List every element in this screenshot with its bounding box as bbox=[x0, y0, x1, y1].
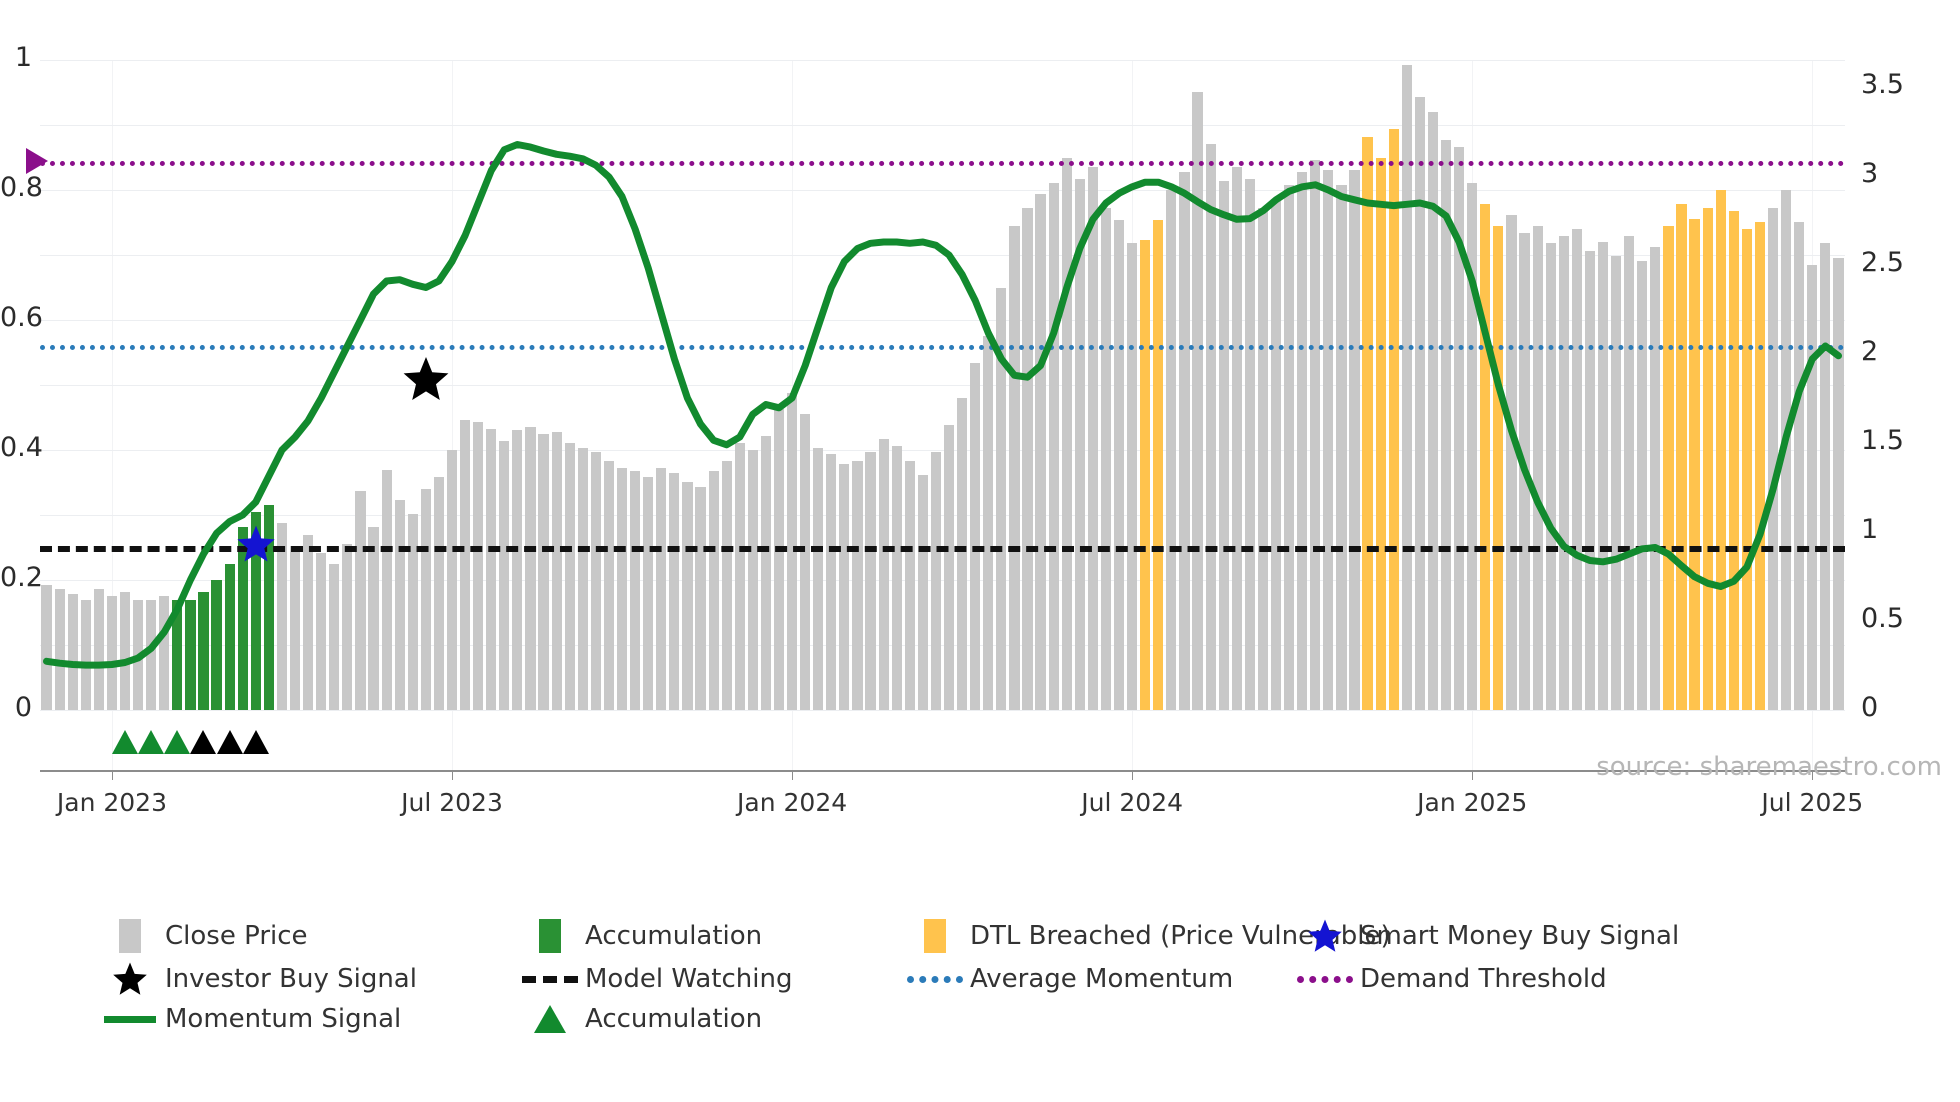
accumulation-triangle-green bbox=[164, 730, 190, 754]
y-axis-left-tick: 0.8 bbox=[0, 172, 32, 203]
x-axis-tick-mark bbox=[1132, 770, 1133, 780]
y-axis-right-tick: 1 bbox=[1861, 514, 1878, 545]
x-axis-tick-mark bbox=[112, 770, 113, 780]
source-note: source: sharemaestro.com bbox=[1596, 752, 1942, 782]
legend-label: Accumulation bbox=[585, 1004, 762, 1034]
demand-threshold-icon bbox=[1290, 976, 1360, 983]
x-axis-tick-mark bbox=[1472, 770, 1473, 780]
gridline bbox=[40, 710, 1845, 711]
legend-item-accumulation-triangle[interactable]: Accumulation bbox=[515, 1004, 900, 1034]
momentum-signal-icon bbox=[95, 1016, 165, 1023]
accumulation-bar-icon bbox=[515, 919, 585, 953]
legend-item-average-momentum[interactable]: Average Momentum bbox=[900, 961, 1290, 997]
x-axis-tick-mark bbox=[792, 770, 793, 780]
legend-label: Momentum Signal bbox=[165, 1004, 401, 1034]
dtl-breached-icon bbox=[900, 919, 970, 953]
accumulation-triangle-black bbox=[243, 730, 269, 754]
y-axis-left-tick: 0.4 bbox=[0, 432, 32, 463]
chart-legend: Close PriceAccumulationDTL Breached (Pri… bbox=[95, 918, 1895, 1041]
chart-root: 00.20.40.60.81 00.511.522.533.5 Jan 2023… bbox=[0, 0, 1960, 1102]
legend-item-close-price[interactable]: Close Price bbox=[95, 918, 515, 954]
investor-buy-icon bbox=[95, 961, 165, 997]
y-axis-right-tick: 0.5 bbox=[1861, 603, 1904, 634]
y-axis-right-tick: 2 bbox=[1861, 336, 1878, 367]
legend-row: Momentum SignalAccumulation bbox=[95, 1004, 1895, 1034]
accumulation-triangle-icon bbox=[515, 1005, 585, 1033]
y-axis-right-tick: 0 bbox=[1861, 692, 1878, 723]
legend-label: Close Price bbox=[165, 921, 308, 951]
legend-label: Average Momentum bbox=[970, 964, 1233, 994]
accumulation-triangle-green bbox=[138, 730, 164, 754]
x-axis-tick-label: Jan 2023 bbox=[57, 788, 167, 817]
y-axis-right-tick: 3.5 bbox=[1861, 69, 1904, 100]
x-axis-line bbox=[40, 770, 1845, 772]
y-axis-left-tick: 1 bbox=[0, 42, 32, 73]
y-axis-left-tick: 0.2 bbox=[0, 562, 32, 593]
legend-item-dtl-breached[interactable]: DTL Breached (Price Vulnerable) bbox=[900, 918, 1290, 954]
legend-label: Model Watching bbox=[585, 964, 792, 994]
x-axis-tick-label: Jan 2024 bbox=[737, 788, 847, 817]
legend-label: Demand Threshold bbox=[1360, 964, 1607, 994]
x-axis-tick-label: Jul 2023 bbox=[401, 788, 503, 817]
x-axis-tick-label: Jan 2025 bbox=[1417, 788, 1527, 817]
smart-money-buy-signal-marker bbox=[236, 524, 276, 564]
y-axis-right-tick: 3 bbox=[1861, 158, 1878, 189]
legend-label: Accumulation bbox=[585, 921, 762, 951]
y-axis-right-tick: 2.5 bbox=[1861, 247, 1904, 278]
accumulation-triangle-green bbox=[112, 730, 138, 754]
investor-buy-signal-marker bbox=[402, 355, 450, 403]
close-price-icon bbox=[95, 919, 165, 953]
legend-item-model-watching[interactable]: Model Watching bbox=[515, 961, 900, 997]
legend-row: Close PriceAccumulationDTL Breached (Pri… bbox=[95, 918, 1895, 954]
legend-item-investor-buy[interactable]: Investor Buy Signal bbox=[95, 961, 515, 997]
accumulation-triangle-black bbox=[217, 730, 243, 754]
x-axis-tick-label: Jul 2025 bbox=[1761, 788, 1863, 817]
legend-item-accumulation-bar[interactable]: Accumulation bbox=[515, 918, 900, 954]
average-momentum-icon bbox=[900, 976, 970, 983]
legend-item-momentum-signal[interactable]: Momentum Signal bbox=[95, 1004, 515, 1034]
legend-item-smart-money-buy[interactable]: Smart Money Buy Signal bbox=[1290, 918, 1679, 954]
accumulation-triangle-black bbox=[190, 730, 216, 754]
smart-money-buy-icon bbox=[1290, 918, 1360, 954]
x-axis-tick-label: Jul 2024 bbox=[1081, 788, 1183, 817]
legend-row: Investor Buy SignalModel WatchingAverage… bbox=[95, 961, 1895, 997]
y-axis-left-tick: 0.6 bbox=[0, 302, 32, 333]
plot-area bbox=[40, 60, 1845, 710]
legend-item-demand-threshold[interactable]: Demand Threshold bbox=[1290, 961, 1607, 997]
momentum-signal-curve bbox=[40, 60, 1845, 710]
model-watching-icon bbox=[515, 976, 585, 983]
y-axis-right-tick: 1.5 bbox=[1861, 425, 1904, 456]
y-axis-left-tick: 0 bbox=[0, 692, 32, 723]
x-axis-tick-mark bbox=[452, 770, 453, 780]
legend-label: Smart Money Buy Signal bbox=[1360, 921, 1679, 951]
legend-label: Investor Buy Signal bbox=[165, 964, 417, 994]
